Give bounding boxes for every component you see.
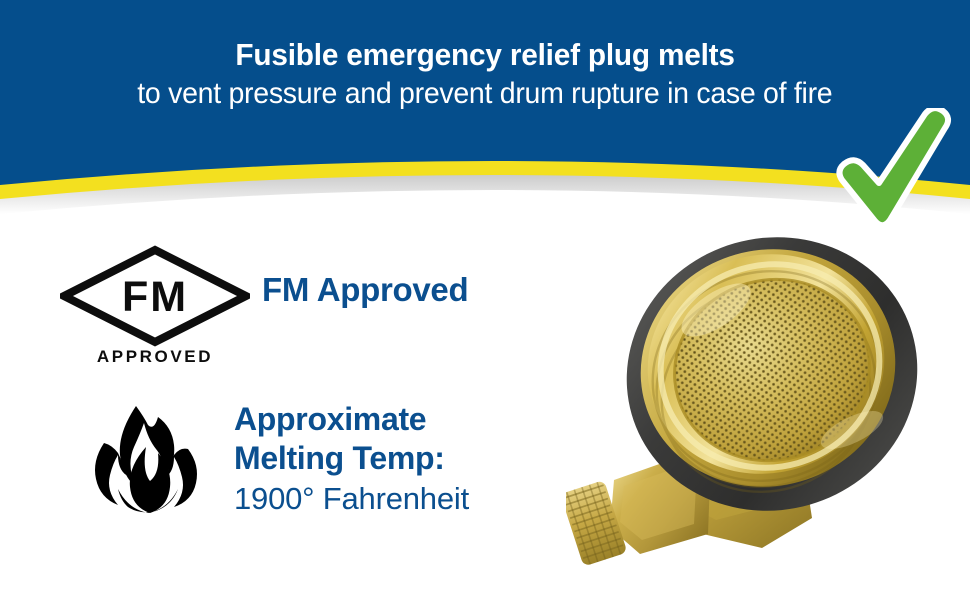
melting-temp-line-2: Melting Temp: (234, 439, 469, 478)
melting-temp-line-1: Approximate (234, 400, 469, 439)
feature-fm-approved: FM APPROVED FM Approved (60, 238, 540, 366)
feature-fm-approved-label: FM Approved (262, 271, 468, 309)
headline-line-1: Fusible emergency relief plug melts (235, 37, 734, 74)
flame-icon (88, 403, 208, 515)
svg-text:FM: FM (122, 273, 188, 321)
brass-drum-vent-plug-photo (566, 218, 970, 600)
headline-line-2: to vent pressure and prevent drum ruptur… (137, 76, 832, 113)
feature-melting-temp-text: Approximate Melting Temp: 1900° Fahrenhe… (234, 400, 469, 519)
check-mark-icon (832, 108, 952, 230)
melting-temp-value: 1900° Fahrenheit (234, 480, 469, 519)
fm-approved-diamond-icon: FM APPROVED (60, 238, 250, 366)
feature-melting-temp: Approximate Melting Temp: 1900° Fahrenhe… (88, 400, 558, 519)
features-list: FM APPROVED FM Approved (0, 230, 560, 600)
promotional-banner: Fusible emergency relief plug melts to v… (0, 0, 970, 600)
headline-block: Fusible emergency relief plug melts to v… (0, 0, 970, 150)
svg-text:APPROVED: APPROVED (97, 347, 213, 366)
